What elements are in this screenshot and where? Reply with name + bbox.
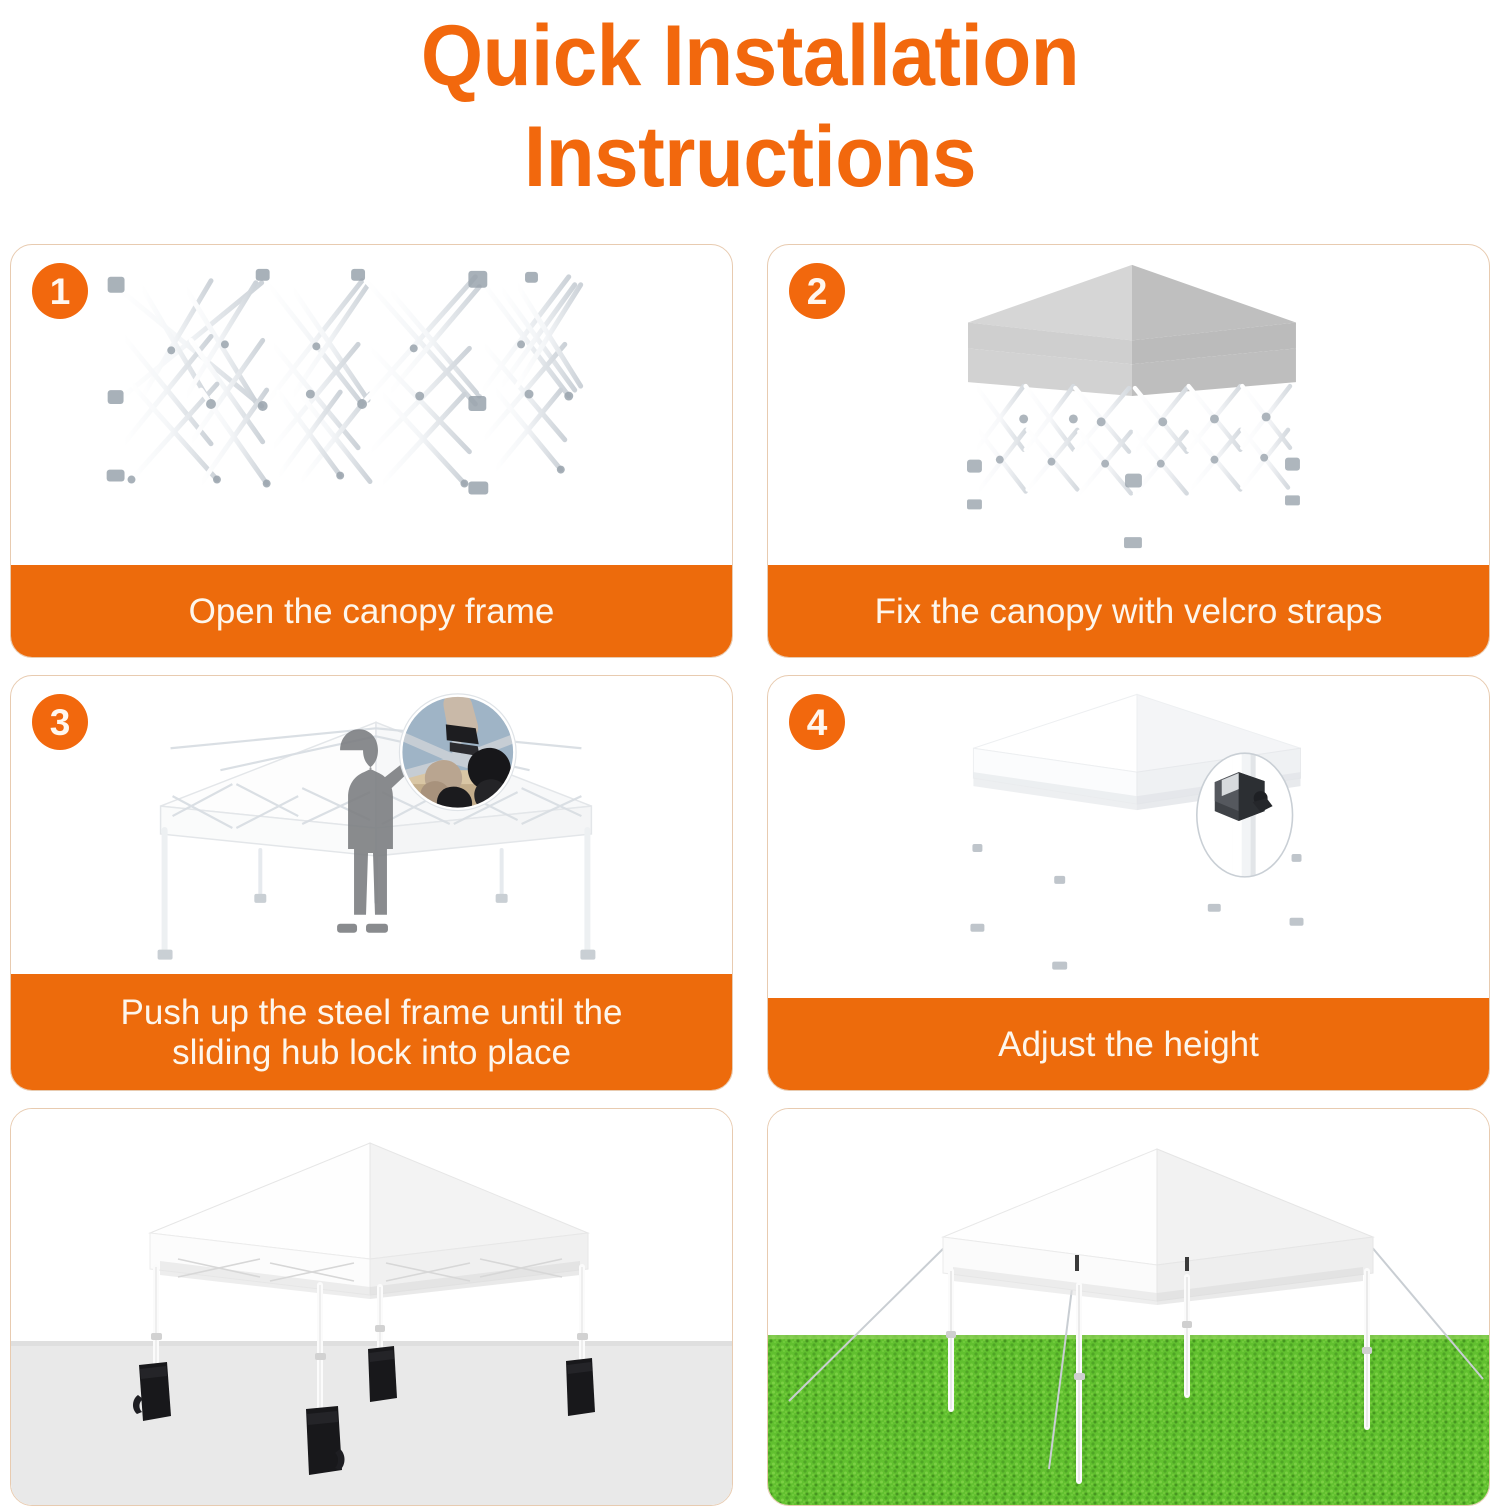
step-number-badge-4: 4 (789, 694, 845, 750)
step-illustration-1 (11, 245, 732, 565)
step-number-badge-1: 1 (32, 263, 88, 319)
title-line-2: Instructions (53, 107, 1448, 208)
step-caption-3-line-2: sliding hub lock into place (121, 1033, 623, 1072)
step-caption-3-line-1: Push up the steel frame until the (121, 993, 623, 1032)
step-panel-3[interactable]: 3 (10, 675, 733, 1091)
weight-bag (368, 1346, 397, 1402)
title-line-1: Quick Installation (53, 6, 1448, 107)
step-illustration-2 (768, 245, 1489, 565)
canopy-roof (968, 265, 1296, 396)
step-number-badge-3: 3 (32, 694, 88, 750)
step-number-badge-2: 2 (789, 263, 845, 319)
page-title: Quick Installation Instructions (53, 0, 1448, 207)
step-caption-1-line-1: Open the canopy frame (189, 592, 555, 631)
steps-grid: 1 (10, 244, 1490, 1492)
step-caption-2-line-1: Fix the canopy with velcro straps (875, 592, 1383, 631)
leg-lock-inset (1197, 753, 1293, 877)
photo-canopy-on-grass (768, 1109, 1489, 1505)
step-panel-4[interactable]: 4 (767, 675, 1490, 1091)
photo-canopy-with-weight-bags (11, 1109, 732, 1505)
step-caption-4-line-1: Adjust the height (998, 1025, 1259, 1064)
photo-panel-grass[interactable] (767, 1108, 1490, 1506)
photo-panel-weight-bags[interactable] (10, 1108, 733, 1506)
step-illustration-4 (768, 676, 1489, 998)
step-caption-1: Open the canopy frame (10, 565, 733, 658)
step-panel-2[interactable]: 2 (767, 244, 1490, 658)
step-illustration-3 (11, 676, 732, 998)
step-panel-1[interactable]: 1 (10, 244, 733, 658)
weight-bag (566, 1358, 595, 1416)
step-caption-3: Push up the steel frame until the slidin… (10, 974, 733, 1091)
step-caption-2: Fix the canopy with velcro straps (767, 565, 1490, 658)
step-caption-4: Adjust the height (767, 998, 1490, 1091)
